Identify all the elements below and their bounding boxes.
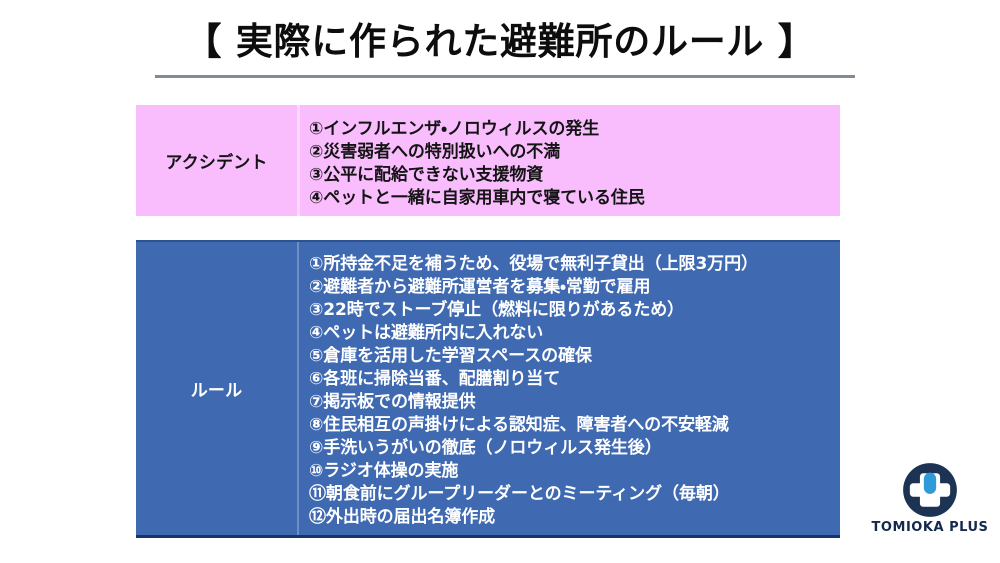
list-item: ⑩ラジオ体操の実施 <box>309 460 840 483</box>
list-item: ⑫外出時の届出名簿作成 <box>309 506 840 529</box>
list-item: ⑦掲示板での情報提供 <box>309 391 840 414</box>
list-item: ③公平に配給できない支援物資 <box>309 164 840 187</box>
list-item: ⑤倉庫を活用した学習スペースの確保 <box>309 345 840 368</box>
list-item: ③22時でストーブ停止（燃料に限りがあるため） <box>309 299 840 322</box>
list-item: ④ペットは避難所内に入れない <box>309 322 840 345</box>
rules-section-label: ルール <box>136 242 297 535</box>
list-item: ④ペットと一緒に自家用車内で寝ている住民 <box>309 187 840 210</box>
list-item: ②災害弱者への特別扱いへの不満 <box>309 141 840 164</box>
list-item: ⑥各班に掃除当番、配膳割り当て <box>309 368 840 391</box>
rules-item-list: ①所持金不足を補うため、役場で無利子貸出（上限3万円） ②避難者から避難所運営者… <box>297 242 840 535</box>
accident-section: アクシデント ①インフルエンザ・ノロウィルスの発生 ②災害弱者への特別扱いへの不… <box>136 105 840 216</box>
rules-column-divider <box>297 242 299 535</box>
rules-section: ルール ①所持金不足を補うため、役場で無利子貸出（上限3万円） ②避難者から避難… <box>136 240 840 538</box>
list-item: ①所持金不足を補うため、役場で無利子貸出（上限3万円） <box>309 253 840 276</box>
accident-item-list: ①インフルエンザ・ノロウィルスの発生 ②災害弱者への特別扱いへの不満 ③公平に配… <box>297 105 840 216</box>
list-item: ①インフルエンザ・ノロウィルスの発生 <box>309 118 840 141</box>
list-item: ⑧住民相互の声掛けによる認知症、障害者への不安軽減 <box>309 414 840 437</box>
list-item: ②避難者から避難所運営者を募集・常勤で雇用 <box>309 276 840 299</box>
title-underline-divider <box>155 75 855 78</box>
page-title: 【 実際に作られた避難所のルール 】 <box>0 20 1000 64</box>
brand-logo: TOMIOKA PLUS <box>866 462 994 544</box>
list-item: ⑪朝食前にグループリーダーとのミーティング（毎朝） <box>309 483 840 506</box>
accident-section-label: アクシデント <box>136 105 297 216</box>
accident-column-divider <box>297 105 300 216</box>
tomioka-plus-cross-icon <box>902 462 958 518</box>
list-item: ⑨手洗いうがいの徹底（ノロウィルス発生後） <box>309 437 840 460</box>
brand-logo-text: TOMIOKA PLUS <box>866 520 994 535</box>
